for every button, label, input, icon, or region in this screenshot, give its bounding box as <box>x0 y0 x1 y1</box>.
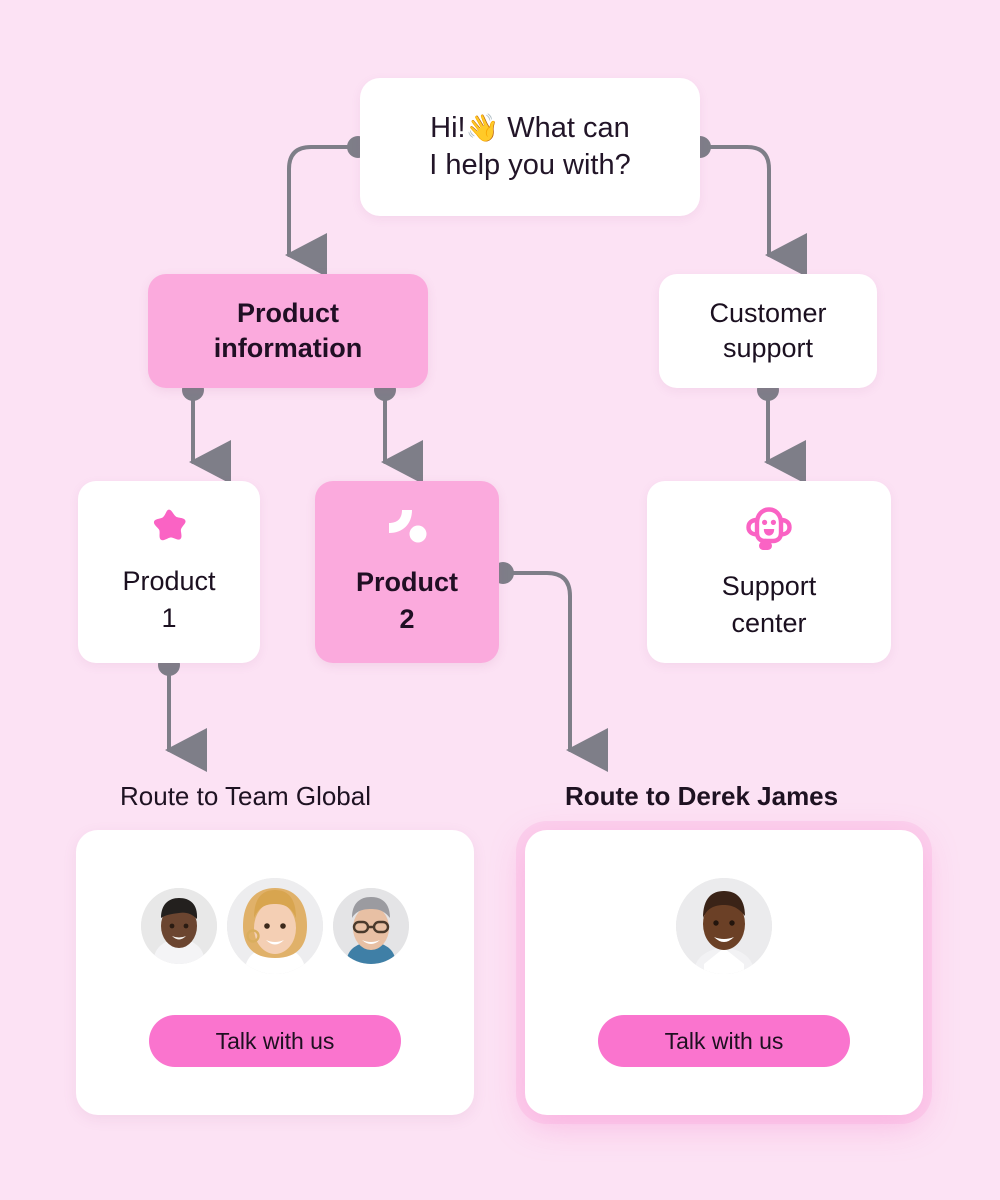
talk-with-us-button-derek[interactable]: Talk with us <box>598 1015 850 1067</box>
edge-product-2-to-route-derek-james <box>503 573 570 750</box>
product-2-line-2: 2 <box>399 602 414 637</box>
chatbot-flow-canvas: Hi!👋 What can I help you with? Product i… <box>0 0 1000 1200</box>
star-icon <box>149 508 189 546</box>
support-agent-icon <box>743 503 795 551</box>
support-center-line-1: Support <box>722 569 817 604</box>
greeting-node[interactable]: Hi!👋 What can I help you with? <box>360 78 700 216</box>
product-information-line-2: information <box>214 331 363 366</box>
product-2-line-1: Product <box>356 565 458 600</box>
route-label-derek-james: Route to Derek James <box>565 781 838 812</box>
customer-support-line-2: support <box>723 331 813 366</box>
node-product-2[interactable]: Product 2 <box>315 481 499 663</box>
node-product-1[interactable]: Product 1 <box>78 481 260 663</box>
widget-preview-derek-james: Talk with us <box>525 830 923 1115</box>
node-customer-support[interactable]: Customer support <box>659 274 877 388</box>
avatar-row <box>676 878 772 974</box>
edge-greeting-to-customer-support <box>700 147 769 255</box>
talk-with-us-button-team[interactable]: Talk with us <box>149 1015 401 1067</box>
edge-greeting-to-product-information <box>289 147 358 255</box>
swoosh-dot-icon <box>383 507 431 547</box>
agent-avatar-2 <box>227 878 323 974</box>
support-center-line-2: center <box>731 606 806 641</box>
greeting-text-before: Hi! <box>430 112 465 144</box>
product-information-line-1: Product <box>237 296 339 331</box>
product-1-line-1: Product <box>122 564 215 599</box>
node-product-information[interactable]: Product information <box>148 274 428 388</box>
route-label-team-global: Route to Team Global <box>120 781 371 812</box>
product-1-line-2: 1 <box>161 601 176 636</box>
greeting-line-1: Hi!👋 What can <box>430 110 630 147</box>
greeting-text-after: What can <box>499 112 630 144</box>
customer-support-line-1: Customer <box>709 296 826 331</box>
agent-avatar-3 <box>333 888 409 964</box>
greeting-line-2: I help you with? <box>429 147 631 184</box>
derek-james-avatar <box>676 878 772 974</box>
node-support-center[interactable]: Support center <box>647 481 891 663</box>
waving-hand-icon: 👋 <box>466 113 500 143</box>
widget-preview-team-global: Talk with us <box>76 830 474 1115</box>
agent-avatar-1 <box>141 888 217 964</box>
avatar-row <box>141 878 409 974</box>
